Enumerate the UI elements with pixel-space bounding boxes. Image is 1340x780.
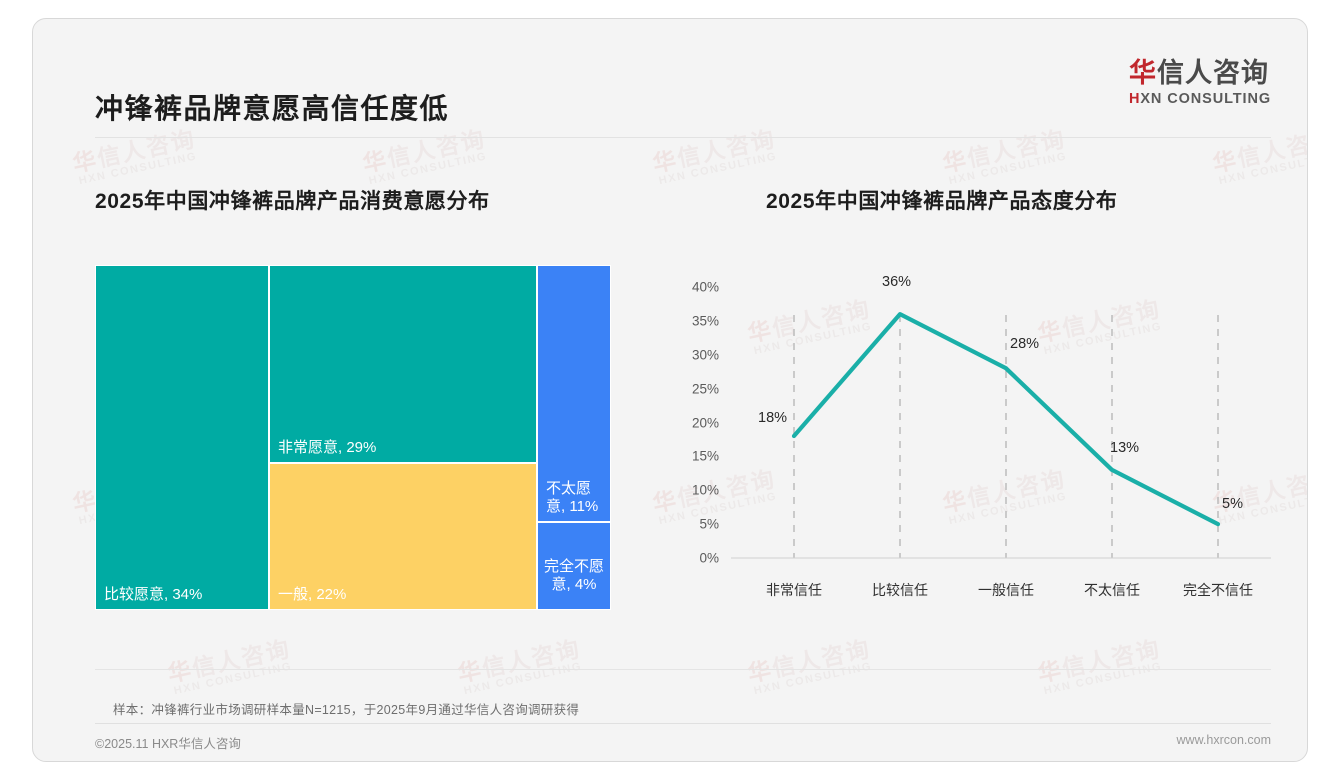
- x-axis-tick-label: 比较信任: [872, 580, 928, 600]
- logo-english: HXN CONSULTING: [1129, 91, 1271, 107]
- logo-english-accent: H: [1129, 91, 1140, 107]
- brand-logo: 华信人咨询 HXN CONSULTING: [1129, 59, 1271, 107]
- treemap-cell-label: 不太愿意, 11%: [546, 480, 604, 518]
- slide-header: 冲锋裤品牌意愿高信任度低 华信人咨询 HXN CONSULTING: [33, 19, 1307, 119]
- data-point-label: 36%: [882, 274, 911, 290]
- consumption-willingness-treemap: 比较愿意, 34%非常愿意, 29%一般, 22%不太愿意, 11%完全不愿意,…: [95, 265, 611, 610]
- watermark-mark: 华信人咨询HXN CONSULTING: [71, 126, 201, 187]
- logo-english-rest: XN CONSULTING: [1140, 91, 1271, 107]
- footer-divider: [95, 723, 1271, 724]
- watermark-mark: 华信人咨询HXN CONSULTING: [1306, 296, 1307, 357]
- logo-chinese-rest: 信人咨询: [1157, 58, 1269, 88]
- x-axis-tick-label: 一般信任: [978, 580, 1034, 600]
- y-axis-tick-label: 15%: [673, 449, 719, 464]
- treemap-cell[interactable]: 不太愿意, 11%: [537, 265, 611, 522]
- right-chart-heading: 2025年中国冲锋裤品牌产品态度分布: [766, 185, 1118, 215]
- data-point-label: 28%: [1010, 336, 1039, 352]
- copyright-text: ©2025.11 HXR华信人咨询: [95, 733, 241, 752]
- y-axis-tick-label: 5%: [673, 517, 719, 532]
- line-chart-svg: [673, 265, 1293, 610]
- treemap-cell[interactable]: 比较愿意, 34%: [95, 265, 269, 610]
- x-axis-tick-label: 完全不信任: [1183, 580, 1253, 600]
- watermark-mark: 华信人咨询HXN CONSULTING: [941, 126, 1071, 187]
- data-point-label: 13%: [1110, 440, 1139, 456]
- y-axis-tick-label: 40%: [673, 280, 719, 295]
- x-axis-tick-label: 非常信任: [766, 580, 822, 600]
- logo-chinese: 华信人咨询: [1129, 59, 1271, 89]
- x-axis-tick-label: 不太信任: [1084, 580, 1140, 600]
- website-url: www.hxrcon.com: [1177, 733, 1271, 747]
- y-axis-tick-label: 20%: [673, 415, 719, 430]
- watermark-mark: 华信人咨询HXN CONSULTING: [1306, 636, 1307, 697]
- page-title: 冲锋裤品牌意愿高信任度低: [95, 87, 449, 127]
- watermark-mark: 华信人咨询HXN CONSULTING: [361, 126, 491, 187]
- watermark-mark: 华信人咨询HXN CONSULTING: [746, 636, 876, 697]
- data-point-label: 18%: [758, 410, 787, 426]
- watermark-mark: 华信人咨询HXN CONSULTING: [651, 126, 781, 187]
- treemap-cell[interactable]: 非常愿意, 29%: [269, 265, 537, 463]
- data-point-label: 5%: [1222, 496, 1243, 512]
- y-axis-tick-label: 0%: [673, 551, 719, 566]
- treemap-cell[interactable]: 一般, 22%: [269, 463, 537, 610]
- treemap-cell-label: 比较愿意, 34%: [104, 586, 202, 605]
- sample-footnote: 样本：冲锋裤行业市场调研样本量N=1215，于2025年9月通过华信人咨询调研获…: [113, 699, 579, 718]
- treemap-cell-label: 非常愿意, 29%: [278, 439, 376, 458]
- left-chart-heading: 2025年中国冲锋裤品牌产品消费意愿分布: [95, 185, 490, 215]
- watermark-mark: 华信人咨询HXN CONSULTING: [166, 636, 296, 697]
- slide-frame: 华信人咨询HXN CONSULTING华信人咨询HXN CONSULTING华信…: [32, 18, 1308, 762]
- treemap-cell[interactable]: 完全不愿意, 4%: [537, 522, 611, 610]
- watermark-mark: 华信人咨询HXN CONSULTING: [456, 636, 586, 697]
- header-divider: [95, 137, 1271, 138]
- treemap-cell-label: 一般, 22%: [278, 586, 346, 605]
- y-axis-tick-label: 10%: [673, 483, 719, 498]
- logo-chinese-accent: 华: [1129, 58, 1157, 88]
- watermark-mark: 华信人咨询HXN CONSULTING: [1036, 636, 1166, 697]
- watermark-mark: 华信人咨询HXN CONSULTING: [1211, 126, 1307, 187]
- y-axis-tick-label: 35%: [673, 313, 719, 328]
- y-axis-tick-label: 25%: [673, 381, 719, 396]
- treemap-cell-label: 完全不愿意, 4%: [538, 558, 610, 596]
- y-axis-tick-label: 30%: [673, 347, 719, 362]
- trust-attitude-line-chart: 40%35%30%25%20%15%10%5%0%非常信任比较信任一般信任不太信…: [673, 265, 1293, 610]
- footnote-divider: [95, 669, 1271, 670]
